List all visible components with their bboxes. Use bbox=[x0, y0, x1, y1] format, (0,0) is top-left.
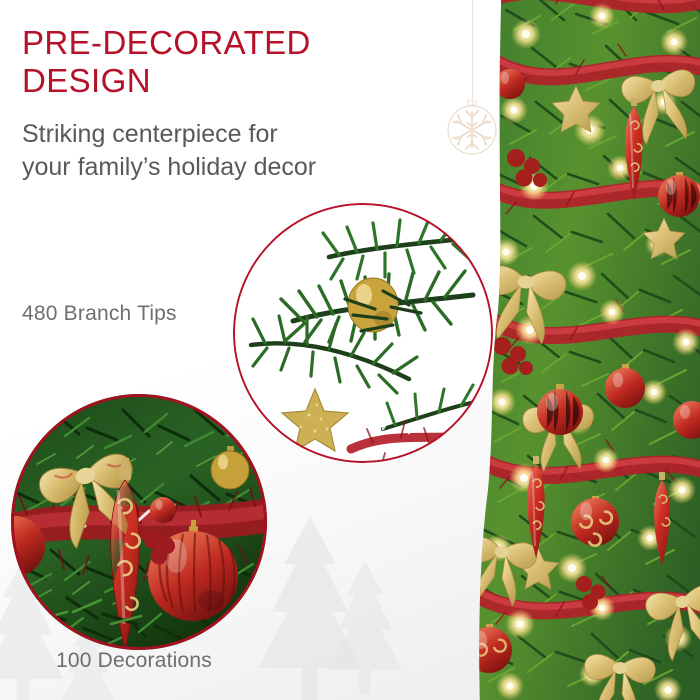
decorations-closeup bbox=[11, 394, 267, 650]
caption-decorations: 100 Decorations bbox=[56, 649, 212, 673]
branch-tips-closeup bbox=[233, 203, 493, 463]
pine-silhouette bbox=[250, 512, 370, 700]
page-title: PRE-DECORATED DESIGN bbox=[22, 24, 482, 100]
bauble bbox=[150, 497, 176, 523]
caption-branch-tips: 480 Branch Tips bbox=[22, 302, 177, 326]
product-feature-image: PRE-DECORATED DESIGN Striking centerpiec… bbox=[0, 0, 700, 700]
subheading: Striking centerpiece for your family’s h… bbox=[22, 118, 422, 184]
pine-silhouette bbox=[322, 556, 408, 696]
bauble bbox=[495, 69, 525, 99]
